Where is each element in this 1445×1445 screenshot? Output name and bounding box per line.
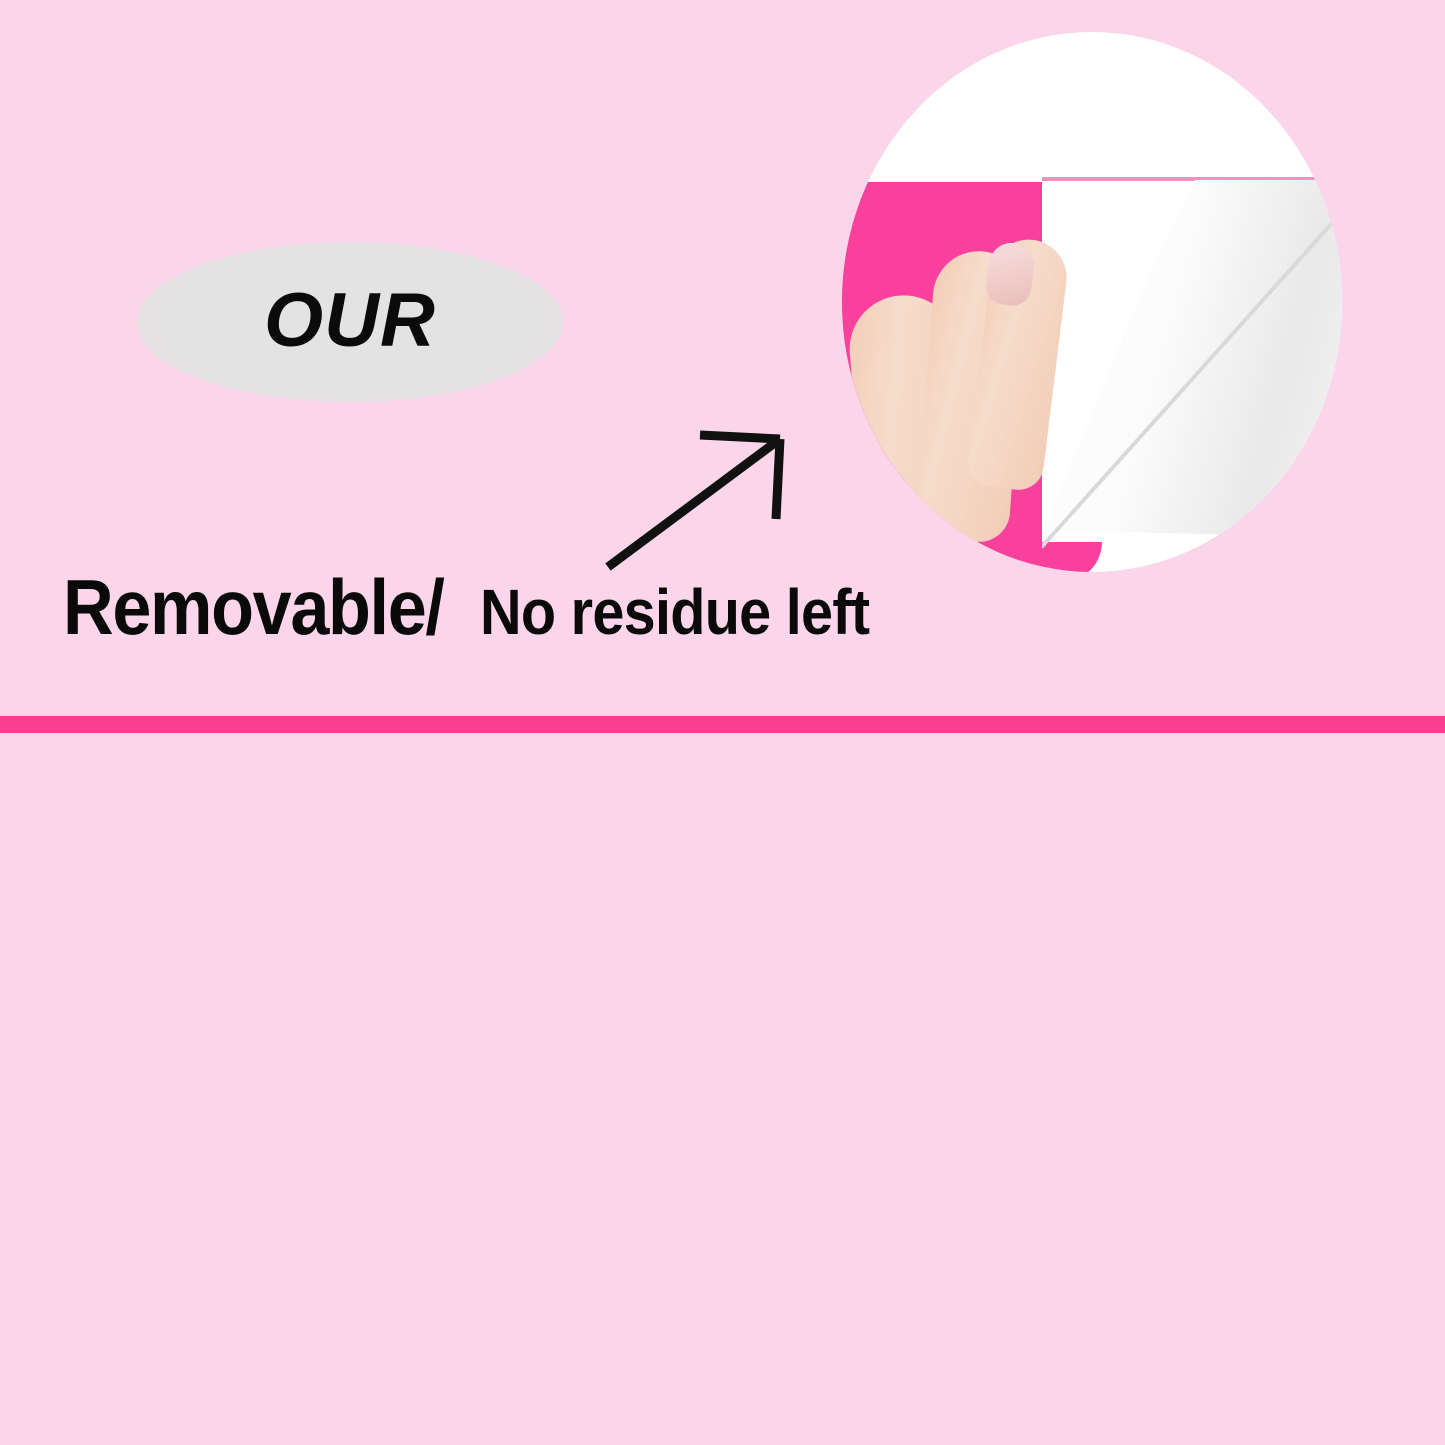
panel-our: OUR Removable/No residue left — [0, 0, 1445, 716]
divider-bar — [0, 716, 1445, 733]
badge-our: OUR — [137, 242, 563, 402]
panel-other: OTHER Not easy to remove — [0, 733, 1445, 1445]
product-comparison-graphic: OUR Removable/No residue left — [0, 0, 1445, 1445]
caption-removable-primary: Removable/ — [63, 568, 444, 646]
caption-removable-secondary: No residue left — [480, 580, 869, 644]
badge-our-label: OUR — [264, 277, 436, 364]
arrow-up-right-icon-our — [600, 415, 810, 575]
photo-hand-peeling-pink-sticker — [842, 32, 1342, 572]
peel-scene — [842, 32, 1342, 572]
hand — [852, 217, 1112, 572]
caption-removable: Removable/No residue left — [63, 568, 912, 646]
